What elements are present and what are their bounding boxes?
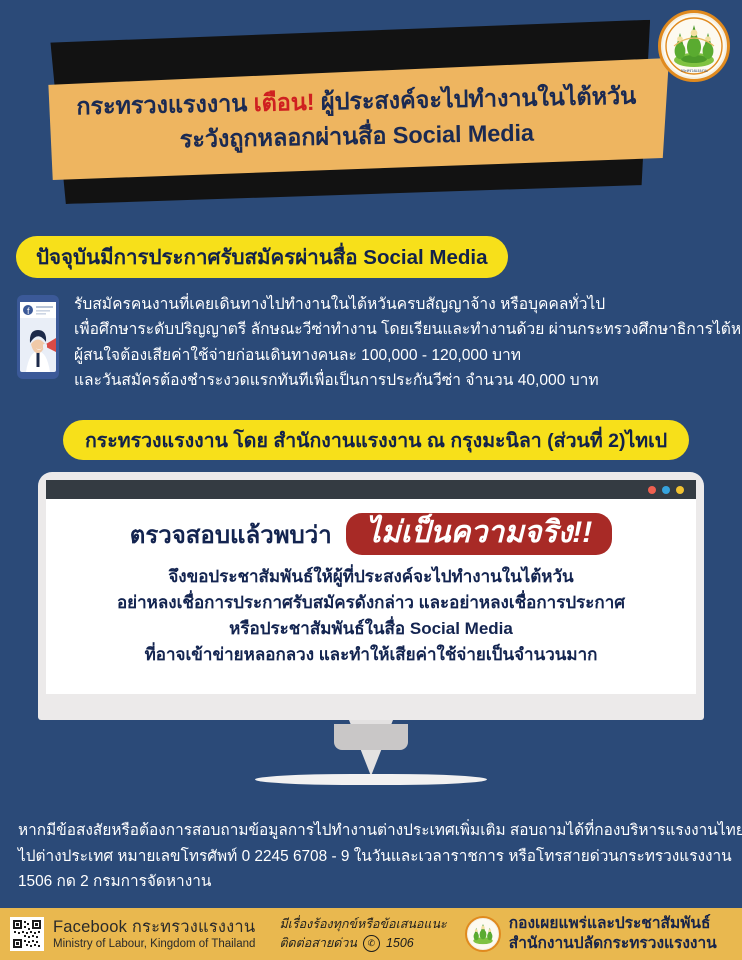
header-warning-word: เตือน! [253,89,314,116]
announcement-line-3: ผู้สนใจต้องเสียค่าใช้จ่ายก่อนเดินทางคนละ… [74,343,742,368]
header-banner: กระทรวงแรงงาน เตือน! ผู้ประสงค์จะไปทำงาน… [0,0,742,215]
qr-code-graphic [12,919,42,949]
monitor-content: ตรวจสอบแล้วพบว่า ไม่เป็นความจริง!! จึงขอ… [46,499,696,668]
verdict-line-1: จึงขอประชาสัมพันธ์ให้ผู้ที่ประสงค์จะไปทำ… [56,564,686,590]
window-maximize-dot-icon [676,486,684,494]
monitor-stand-base [255,774,487,785]
announcement-detail-text: รับสมัครคนงานที่เคยเดินทางไปทำงานในไต้หว… [74,292,742,393]
verdict-line-4: ที่อาจเข้าข่ายหลอกลวง และทำให้เสียค่าใช้… [56,642,686,668]
footer-bar: Facebook กระทรวงแรงงาน Ministry of Labou… [0,908,742,960]
window-close-dot-icon [648,486,656,494]
hotline-number: 1506 [386,934,414,953]
monitor-bezel: ตรวจสอบแล้วพบว่า ไม่เป็นความจริง!! จึงขอ… [38,472,704,720]
contact-information: หากมีข้อสงสัยหรือต้องการสอบถามข้อมูลการไ… [18,818,730,895]
header-title-part-2: ผู้ประสงค์จะไปทำงานในไต้หวัน [314,83,636,115]
social-media-announcement-icon: f [16,294,60,380]
ministry-english-name: Ministry of Labour, Kingdom of Thailand [53,937,255,951]
header-title-line-1: กระทรวงแรงงาน เตือน! ผู้ประสงค์จะไปทำงาน… [76,80,636,124]
department-line-2: สำนักงานปลัดกระทรวงแรงงาน [509,934,717,954]
monitor-screen: ตรวจสอบแล้วพบว่า ไม่เป็นความจริง!! จึงขอ… [46,480,696,694]
department-block: กองเผยแพร่และประชาสัมพันธ์ สำนักงานปลัดก… [509,914,717,954]
header-text-group: กระทรวงแรงงาน เตือน! ผู้ประสงค์จะไปทำงาน… [43,52,670,186]
footer-seal-emblem-icon [467,918,499,950]
contact-line-2: ไปต่างประเทศ หมายเลขโทรศัพท์ 0 2245 6708… [18,844,730,870]
monitor-illustration: ตรวจสอบแล้วพบว่า ไม่เป็นความจริง!! จึงขอ… [38,472,704,720]
verdict-line-3: หรือประชาสัมพันธ์ในสื่อ Social Media [56,616,686,642]
facebook-block[interactable]: Facebook กระทรวงแรงงาน Ministry of Labou… [53,917,255,952]
verdict-badge: ไม่เป็นความจริง!! [346,513,613,555]
verdict-paragraph: จึงขอประชาสัมพันธ์ให้ผู้ที่ประสงค์จะไปทำ… [56,564,686,667]
ministry-of-labour-seal-icon: กระทรวงแรงงาน [658,10,730,82]
header-title-line-2: ระวังถูกหลอกผ่านสื่อ Social Media [179,116,534,156]
window-titlebar [46,480,696,499]
footer-ministry-seal-icon [465,916,501,952]
seal-caption: กระทรวงแรงงาน [661,67,727,74]
verdict-line-2: อย่าหลงเชื่อการประกาศรับสมัครดังกล่าว แล… [56,590,686,616]
phone-icon: ✆ [363,935,380,952]
monitor-stand-plate [334,724,408,750]
announcement-detail-row: f รับสมัครคนงานที่เคยเดินทางไปทำงานในไต้… [16,292,728,393]
complaint-line-2: ติดต่อสายด่วน [279,934,357,953]
infographic-poster: กระทรวงแรงงาน เตือน! ผู้ประสงค์จะไปทำงาน… [0,0,742,960]
window-minimize-dot-icon [662,486,670,494]
complaint-line-2-row: ติดต่อสายด่วน ✆ 1506 [279,934,446,953]
complaint-line-1: มีเรื่องร้องทุกข์หรือข้อเสนอแนะ [279,915,446,934]
complaint-block: มีเรื่องร้องทุกข์หรือข้อเสนอแนะ ติดต่อสา… [279,915,446,953]
department-line-1: กองเผยแพร่และประชาสัมพันธ์ [509,914,717,934]
announcement-line-4: และวันสมัครต้องชำระงวดแรกทันทีเพื่อเป็นก… [74,368,742,393]
contact-line-3: 1506 กด 2 กรมการจัดหางาน [18,869,730,895]
qr-code-icon[interactable] [10,917,44,951]
announcement-line-1: รับสมัครคนงานที่เคยเดินทางไปทำงานในไต้หว… [74,292,742,317]
facebook-page-name: Facebook กระทรวงแรงงาน [53,917,255,937]
verdict-label: ตรวจสอบแล้วพบว่า [130,515,332,554]
announcement-line-2: เพื่อศึกษาระดับปริญญาตรี ลักษณะวีซ่าทำงา… [74,317,742,342]
pill-current-announcement: ปัจจุบันมีการประกาศรับสมัครผ่านสื่อ Soci… [16,236,508,278]
pill-labour-office-manila: กระทรวงแรงงาน โดย สำนักงานแรงงาน ณ กรุงม… [63,420,689,460]
phone-megaphone-icon: f [16,294,60,380]
verdict-row: ตรวจสอบแล้วพบว่า ไม่เป็นความจริง!! [56,513,686,555]
header-title-part-1: กระทรวงแรงงาน [76,90,254,119]
contact-line-1: หากมีข้อสงสัยหรือต้องการสอบถามข้อมูลการไ… [18,818,730,844]
